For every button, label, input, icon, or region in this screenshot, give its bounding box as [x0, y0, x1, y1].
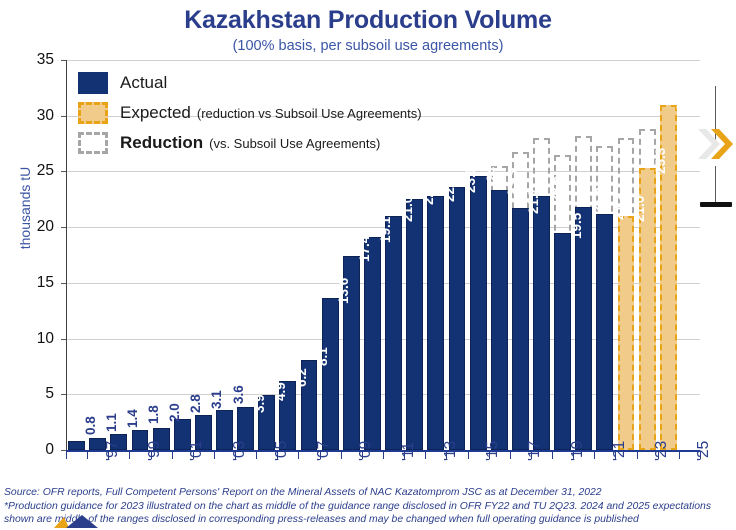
- x-axis-tick-mark: [510, 451, 511, 459]
- x-axis-tick-mark: [679, 451, 680, 459]
- x-axis-tick-mark: [341, 451, 342, 459]
- bar-value-label: 1.1: [105, 413, 119, 432]
- annotation-bracket-lower: [715, 166, 716, 204]
- bar-actual: [596, 214, 613, 450]
- chart-subtitle: (100% basis, per subsoil use agreements): [0, 38, 736, 54]
- bar-actual: [512, 208, 529, 450]
- bar-actual: [364, 237, 381, 450]
- bar-value-label: 31.0: [675, 84, 689, 110]
- bar-actual: [533, 196, 550, 450]
- bar-actual: [68, 441, 85, 450]
- bar-value-label: 25.3: [654, 148, 668, 174]
- x-axis-tick-mark: [256, 451, 257, 459]
- bar-value-label: 3.6: [232, 385, 246, 404]
- bar-value-label: 19.1: [379, 217, 393, 243]
- bar-actual: [406, 199, 423, 450]
- y-axis-tick-label: 35: [20, 52, 54, 68]
- legend-swatch-expected: [78, 102, 108, 124]
- x-axis-tick-mark: [214, 451, 215, 459]
- y-axis-tick-label: 25: [20, 163, 54, 179]
- bar-value-label: 2.0: [168, 403, 182, 422]
- y-axis-tick-label: 5: [20, 386, 54, 402]
- bar-value-label: 17.4: [358, 236, 372, 262]
- bar-value-label: 21.0*: [633, 190, 647, 222]
- bar-actual: [427, 196, 444, 450]
- bar-value-label: 22.8: [549, 176, 563, 202]
- footnote-note-line2: shown are middle of the ranges disclosed…: [4, 513, 734, 527]
- bar-value-label: 4.9: [274, 383, 288, 402]
- legend-note: (vs. Subsoil Use Agreements): [209, 136, 380, 151]
- bar-actual: [575, 207, 592, 450]
- bar-actual: [491, 190, 508, 450]
- legend-label: Actual: [120, 73, 167, 93]
- legend-swatch-actual: [78, 72, 108, 94]
- chart-legend: ActualExpected(reduction vs Subsoil Use …: [78, 68, 422, 158]
- bar-actual: [449, 187, 466, 450]
- bar-expected: [618, 216, 635, 450]
- bar-value-label: 19.5: [570, 212, 584, 238]
- bar-value-label: 23.3: [506, 170, 520, 196]
- x-axis-tick-mark: [129, 451, 130, 459]
- bar-value-label: 21.0: [401, 196, 415, 222]
- legend-swatch-reduction: [78, 132, 108, 154]
- bar-value-label: 1.8: [147, 405, 161, 424]
- legend-label: Expected: [120, 103, 191, 123]
- legend-note: (reduction vs Subsoil Use Agreements): [197, 106, 422, 121]
- bar-value-label: 13.6: [337, 278, 351, 304]
- bar-actual: [385, 216, 402, 450]
- x-axis-tick-mark: [66, 451, 67, 459]
- y-axis-tick-label: 0: [20, 442, 54, 458]
- bar-value-label: 22.8: [443, 176, 457, 202]
- company-logo: [52, 513, 108, 529]
- annotation-endpoint-tick: [700, 202, 732, 207]
- y-axis-tick-label: 10: [20, 331, 54, 347]
- y-axis-line: [66, 60, 67, 452]
- x-axis-tick-mark: [383, 451, 384, 459]
- x-axis-tick-mark: [468, 451, 469, 459]
- bar-value-label: 22.5: [422, 179, 436, 205]
- y-axis-label: thousands tU: [17, 128, 33, 288]
- y-axis-tick-label: 20: [20, 219, 54, 235]
- y-axis-tick-label: 15: [20, 275, 54, 291]
- bar-value-label: 23.6: [464, 167, 478, 193]
- x-axis-tick-mark: [425, 451, 426, 459]
- bar-actual: [470, 176, 487, 450]
- chart-root: Kazakhstan Production Volume (100% basis…: [0, 0, 736, 530]
- x-axis-tick-mark: [594, 451, 595, 459]
- bar-value-label: 1.4: [126, 410, 140, 429]
- bar-value-label: 3.1: [210, 391, 224, 410]
- bar-actual: [322, 298, 339, 450]
- x-axis-tick-mark: [172, 451, 173, 459]
- legend-label: Reduction: [120, 133, 203, 153]
- x-axis-tick-mark: [87, 451, 88, 459]
- y-axis-tick-label: 30: [20, 108, 54, 124]
- bar-value-label: 8.1: [316, 347, 330, 366]
- x-axis-tick-mark: [637, 451, 638, 459]
- chart-title: Kazakhstan Production Volume: [0, 6, 736, 35]
- bar-value-label: 3.9: [253, 394, 267, 413]
- bar-value-label: 2.8: [189, 394, 203, 413]
- legend-item-actual[interactable]: Actual: [78, 68, 422, 98]
- legend-item-expected[interactable]: Expected(reduction vs Subsoil Use Agreem…: [78, 98, 422, 128]
- x-axis-line: [66, 450, 700, 452]
- x-axis-tick-mark: [552, 451, 553, 459]
- footnote-note-line1: *Production guidance for 2023 illustrate…: [4, 500, 734, 514]
- double-chevron-icon: [696, 126, 736, 162]
- bar-actual: [554, 233, 571, 450]
- bar-value-label: 21.2: [612, 193, 626, 219]
- gridline: [66, 60, 700, 61]
- bar-value-label: 21.7: [527, 188, 541, 214]
- bar-value-label: 6.2: [295, 368, 309, 387]
- bar-value-label: 21.8: [591, 187, 605, 213]
- footnote-source: Source: OFR reports, Full Competent Pers…: [4, 486, 734, 500]
- bar-value-label: 24.6: [485, 156, 499, 182]
- x-axis-tick-mark: [298, 451, 299, 459]
- legend-item-reduction[interactable]: Reduction(vs. Subsoil Use Agreements): [78, 128, 422, 158]
- bar-value-label: 0.8: [84, 416, 98, 435]
